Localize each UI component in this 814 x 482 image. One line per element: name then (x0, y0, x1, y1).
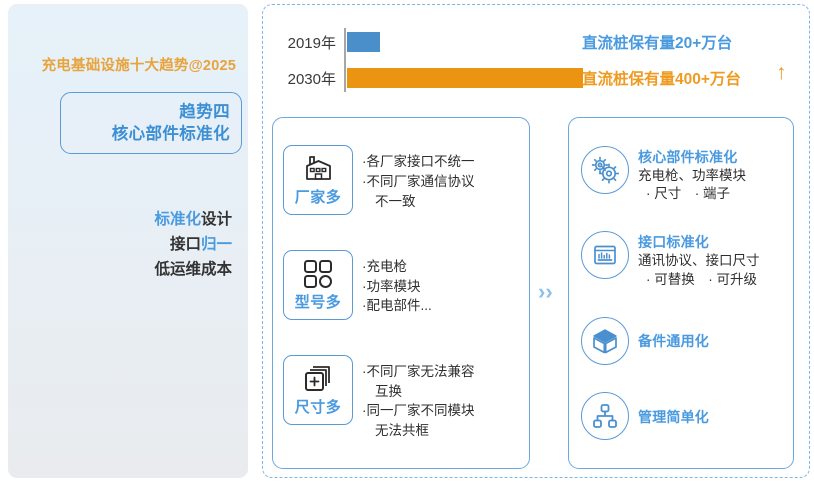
trend-number: 趋势四 (179, 101, 230, 123)
solution-item: 备件通用化 (581, 317, 785, 365)
bullet-line: 不一致 (362, 192, 475, 212)
chart-bar-2030 (347, 68, 583, 88)
problem-icon-box-manufacturers: 厂家多 (283, 145, 353, 215)
chart-bar-2019 (347, 32, 380, 52)
keyword-3-dark: 低运维成本 (154, 261, 232, 278)
flow-chevron-icon: ›› (538, 281, 553, 303)
solution-subtitle-1: 通讯协议、接口尺寸 (638, 252, 760, 271)
box-open-icon (581, 317, 629, 365)
solution-subtitle-2: · 可替换 · 可升级 (638, 271, 760, 290)
left-summary-panel: 充电基础设施十大趋势@2025 趋势四 核心部件标准化 标准化设计 接口归一 低… (8, 4, 248, 478)
solutions-panel: 核心部件标准化 充电枪、功率模块 · 尺寸 · 端子 (568, 117, 794, 469)
keyword-1-blue: 标准化 (154, 211, 201, 228)
solution-title: 管理简单化 (638, 407, 709, 427)
chart-category-2019: 2019年 (272, 32, 344, 53)
problem-card: 尺寸多 ·不同厂家无法兼容 互换 ·同一厂家不同模块 无法共框 (283, 355, 521, 440)
chart-value-label-2019: 直流桩保有量20+万台 (582, 31, 732, 53)
problem-card-bullets: ·充电枪 ·功率模块 ·配电部件... (362, 250, 432, 316)
problem-icon-box-models: 型号多 (283, 250, 353, 320)
solution-item: 接口标准化 通讯协议、接口尺寸 · 可替换 · 可升级 (581, 231, 785, 289)
keyword-2-dark: 接口 (170, 236, 201, 253)
problem-card-label: 厂家多 (295, 186, 342, 207)
bullet-line: ·各厂家接口不统一 (362, 152, 475, 172)
chart-row-2030: 2030年 (272, 60, 583, 96)
brand-title: 充电基础设施十大趋势@2025 (18, 54, 236, 75)
bullet-line: ·不同厂家无法兼容 (362, 362, 475, 382)
problem-icon-box-sizes: 尺寸多 (283, 355, 353, 425)
bullet-line: ·充电枪 (362, 257, 432, 277)
trend-title-box: 趋势四 核心部件标准化 (60, 92, 242, 154)
keyword-line-1: 标准化设计 (154, 207, 232, 232)
solution-title: 备件通用化 (638, 331, 709, 351)
solution-subtitle-2: · 尺寸 · 端子 (638, 185, 746, 204)
growth-up-arrow-icon: ↑ (776, 62, 787, 83)
problems-panel: 厂家多 ·各厂家接口不统一 ·不同厂家通信协议 不一致 型号多 ·充电枪 ·功率… (272, 117, 530, 469)
solution-title: 接口标准化 (638, 232, 760, 252)
bullet-line: ·配电部件... (362, 296, 432, 316)
solution-text-block: 核心部件标准化 充电枪、功率模块 · 尺寸 · 端子 (638, 146, 746, 204)
gears-icon (581, 146, 629, 194)
bullet-line: ·不同厂家通信协议 (362, 172, 475, 192)
solution-item: 核心部件标准化 充电枪、功率模块 · 尺寸 · 端子 (581, 146, 785, 204)
keyword-line-2: 接口归一 (154, 232, 232, 257)
problem-card-bullets: ·不同厂家无法兼容 互换 ·同一厂家不同模块 无法共框 (362, 355, 475, 440)
keyword-1-dark: 设计 (201, 211, 232, 228)
problem-card: 型号多 ·充电枪 ·功率模块 ·配电部件... (283, 250, 521, 320)
solution-subtitle-1: 充电枪、功率模块 (638, 167, 746, 186)
solution-item: 管理简单化 (581, 392, 785, 440)
chart-bar-wrap-2030 (344, 60, 583, 96)
hierarchy-icon (581, 392, 629, 440)
solution-text-block: 接口标准化 通讯协议、接口尺寸 · 可替换 · 可升级 (638, 231, 760, 289)
bullet-line: ·同一厂家不同模块 (362, 401, 475, 421)
chart-row-2019: 2019年 (272, 24, 583, 60)
solution-text-block: 备件通用化 (638, 330, 709, 351)
keyword-2-blue: 归一 (201, 236, 232, 253)
bullet-line: 互换 (362, 382, 475, 402)
trend-name: 核心部件标准化 (112, 123, 230, 145)
solution-title: 核心部件标准化 (638, 147, 746, 167)
dc-charger-growth-chart: 2019年 2030年 直流桩保有量20+万台 直流桩保有量400+万台 ↑ (272, 24, 802, 96)
keyword-list: 标准化设计 接口归一 低运维成本 (154, 207, 232, 282)
chart-rows: 2019年 2030年 (272, 24, 583, 96)
chart-bar-wrap-2019 (344, 24, 380, 60)
copy-add-icon (303, 363, 333, 395)
chart-category-2030: 2030年 (272, 68, 344, 89)
problem-card-label: 尺寸多 (295, 396, 342, 417)
factory-icon (301, 153, 335, 185)
problem-card-label: 型号多 (295, 291, 342, 312)
problem-card: 厂家多 ·各厂家接口不统一 ·不同厂家通信协议 不一致 (283, 145, 521, 215)
solution-text-block: 管理简单化 (638, 406, 709, 427)
chart-value-label-2030: 直流桩保有量400+万台 (582, 67, 741, 89)
bullet-line: ·功率模块 (362, 277, 432, 297)
problem-card-bullets: ·各厂家接口不统一 ·不同厂家通信协议 不一致 (362, 145, 475, 211)
shapes-grid-icon (303, 258, 333, 290)
interface-chart-icon (581, 231, 629, 279)
keyword-line-3: 低运维成本 (154, 257, 232, 282)
bullet-line: 无法共框 (362, 421, 475, 441)
